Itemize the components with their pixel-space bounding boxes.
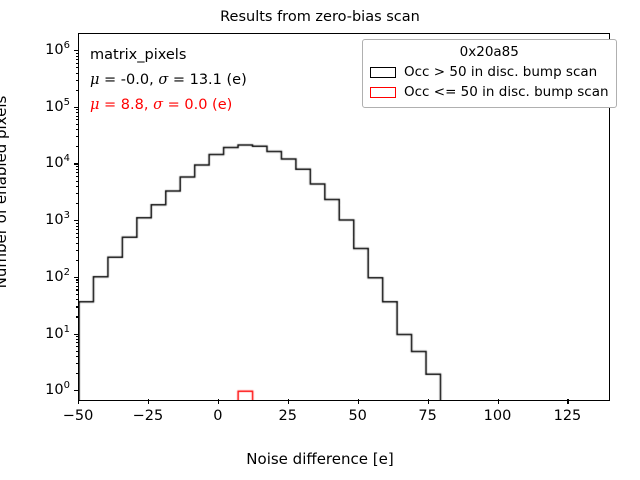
x-tick-label: 50 [348,408,366,424]
x-tick-label: 125 [554,408,582,424]
page-title: Results from zero-bias scan [0,9,640,25]
x-tick-label: 25 [279,408,297,424]
annotation-line-red: μ = 8.8, σ = 0.0 (e) [90,93,247,118]
sigma-symbol-black: σ [158,72,168,88]
legend-label-red: Occ <= 50 in disc. bump scan [404,84,609,100]
annotation-line-black: μ = -0.0, σ = 13.1 (e) [90,68,247,93]
figure-canvas: Results from zero-bias scan Number of en… [0,0,640,480]
mu-value-black: = -0.0, [99,72,158,88]
legend-item-black[interactable]: Occ > 50 in disc. bump scan [370,62,609,82]
y-tick-label: 103 [22,212,70,228]
x-tick-label: −50 [63,408,94,424]
legend-label-black: Occ > 50 in disc. bump scan [404,64,597,80]
x-tick-label: 0 [213,408,222,424]
y-tick-label: 106 [22,42,70,58]
legend-swatch-icon-red [370,87,396,98]
sigma-value-black: = 13.1 (e) [168,72,247,88]
legend-title: 0x20a85 [370,44,609,62]
mu-value-red: = 8.8, [99,97,153,113]
legend: 0x20a85 Occ > 50 in disc. bump scan Occ … [362,39,617,108]
x-tick-label: 75 [418,408,436,424]
x-tick-label: −25 [133,408,164,424]
y-tick-label: 102 [22,269,70,285]
y-tick-label: 104 [22,155,70,171]
y-axis-label: Number of enabled pixels [0,0,10,407]
y-tick-label: 105 [22,99,70,115]
y-tick-label: 100 [22,382,70,398]
y-tick-label: 101 [22,326,70,342]
statistics-annotation: matrix_pixels μ = -0.0, σ = 13.1 (e) μ =… [90,43,247,118]
x-axis-label: Noise difference [e] [0,450,640,468]
legend-swatch-icon-black [370,67,396,78]
sigma-value-red: = 0.0 (e) [163,97,232,113]
annotation-line-matrix: matrix_pixels [90,43,247,68]
x-tick-label: 100 [484,408,512,424]
sigma-symbol-red: σ [153,97,163,113]
legend-item-red[interactable]: Occ <= 50 in disc. bump scan [370,82,609,102]
